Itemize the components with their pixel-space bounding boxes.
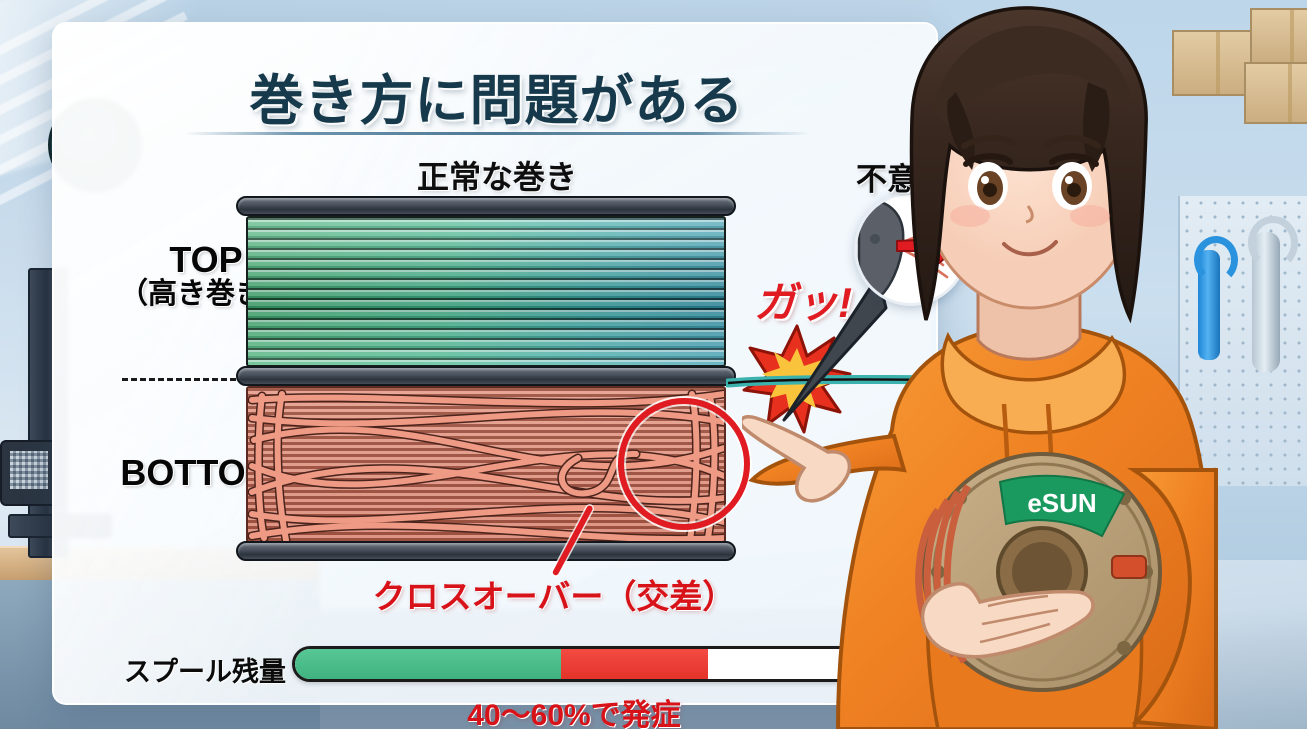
gauge-note: 40〜60%で発症 xyxy=(354,690,794,729)
pupil-right xyxy=(1067,183,1081,197)
spool-flange-top xyxy=(236,196,736,216)
label-top-main: TOP xyxy=(169,239,242,280)
eye-highlight-right xyxy=(1065,176,1073,184)
gauge-segment-safe xyxy=(295,649,561,679)
magnifier-circle-icon xyxy=(618,398,750,530)
blush-left xyxy=(950,205,990,227)
character-illustration: eSUN xyxy=(742,0,1307,729)
winding-neat-top xyxy=(246,216,726,367)
crossover-caption: クロスオーバー（交差） xyxy=(334,570,774,618)
pointing-hand xyxy=(742,417,849,501)
spool-flange-middle xyxy=(236,366,736,386)
spool-sticker xyxy=(1112,556,1146,578)
illustration-stage: 巻き方に問題がある 正常な巻き TOP （高き巻き） BOTTOM xyxy=(0,0,1307,729)
spool-diagram xyxy=(236,176,736,566)
eye-highlight-left xyxy=(981,176,989,184)
pupil-left xyxy=(983,183,997,197)
title-divider xyxy=(184,132,810,135)
gauge-segment-risk xyxy=(561,649,708,679)
spool-flange-bottom xyxy=(236,541,736,561)
blush-right xyxy=(1070,205,1110,227)
gauge-label: スプール残量 xyxy=(124,650,286,689)
spool-brand-text: eSUN xyxy=(1027,488,1096,518)
